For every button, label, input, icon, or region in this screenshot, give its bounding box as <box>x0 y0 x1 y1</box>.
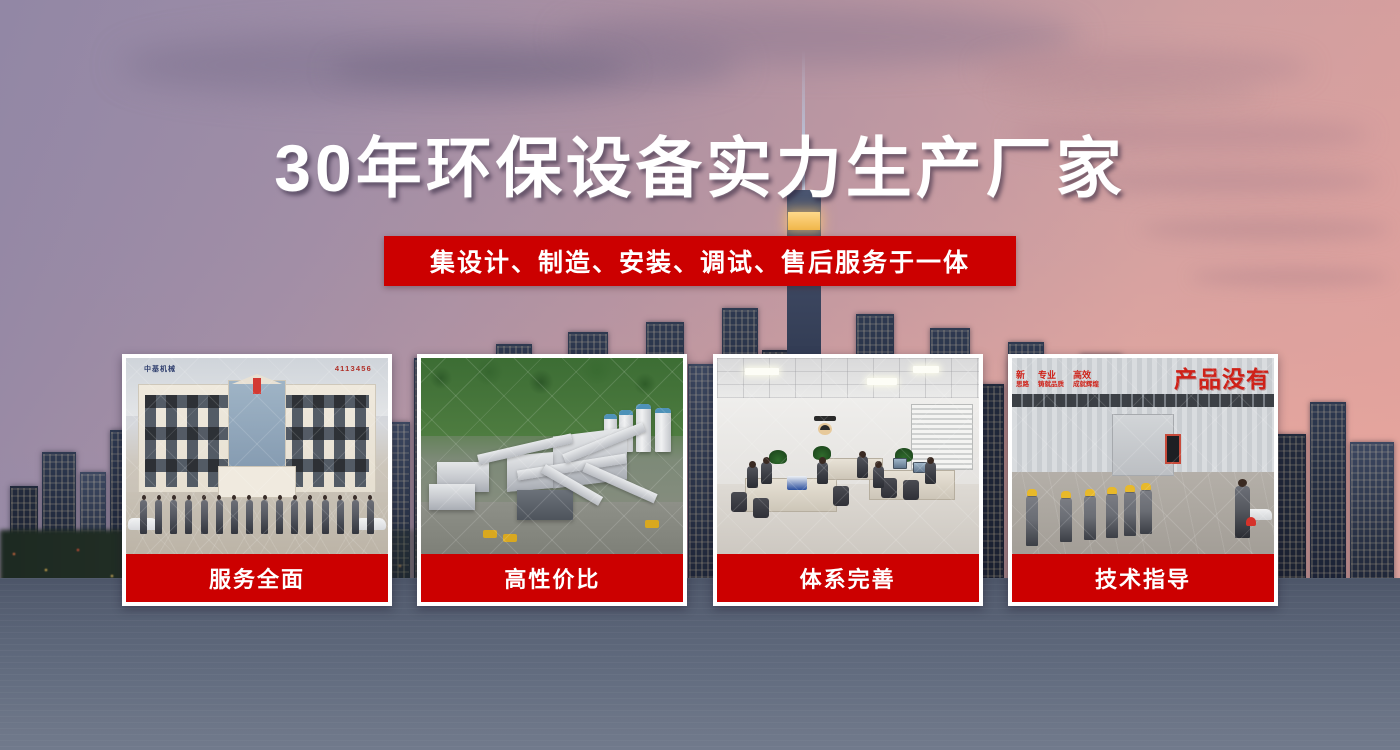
card-photo-office-interior <box>717 358 979 554</box>
cloud-shape <box>1000 78 1260 108</box>
slogan-top: 专业 <box>1038 370 1064 381</box>
slogan-bottom: 成就辉煌 <box>1073 381 1099 389</box>
card-caption-bar: 服务全面 <box>126 554 388 602</box>
printer-icon <box>787 476 807 490</box>
subtitle-banner: 集设计、制造、安装、调试、售后服务于一体 <box>384 236 1016 286</box>
factory-slogan-text: 新 思路 专业 铸就品质 高效 成就辉煌 <box>1016 370 1099 389</box>
card-caption-text: 高性价比 <box>504 562 600 594</box>
cloud-shape <box>330 52 630 86</box>
flag-icon <box>253 378 261 394</box>
page-title: 30年环保设备实力生产厂家 <box>0 132 1400 205</box>
cloud-shape <box>120 30 740 100</box>
card-photo-company-building: 中基机械 4113456 <box>126 358 388 554</box>
building-phone-text: 4113456 <box>335 364 372 373</box>
card-caption-text: 体系完善 <box>800 562 896 594</box>
card-caption-bar: 技术指导 <box>1012 554 1274 602</box>
slogan-bottom: 思路 <box>1016 381 1029 389</box>
card-photo-plant-aerial <box>421 358 683 554</box>
card-photo-factory-workers: 产品没有 新 思路 专业 铸就品质 高效 成就辉煌 <box>1012 358 1274 554</box>
wall-emblem-icon <box>809 416 841 442</box>
feature-card[interactable]: 体系完善 <box>713 354 983 606</box>
card-caption-bar: 高性价比 <box>421 554 683 602</box>
cloud-shape <box>980 48 1310 88</box>
feature-card[interactable]: 产品没有 新 思路 专业 铸就品质 高效 成就辉煌 <box>1008 354 1278 606</box>
promo-banner: 30年环保设备实力生产厂家 集设计、制造、安装、调试、售后服务于一体 中基机械 … <box>0 0 1400 750</box>
slogan-bottom: 铸就品质 <box>1038 381 1064 389</box>
feature-card[interactable]: 中基机械 4113456 服务全面 <box>122 354 392 606</box>
building-sign-text: 中基机械 <box>144 364 176 374</box>
card-caption-text: 技术指导 <box>1095 562 1191 594</box>
slogan-top: 新 <box>1016 370 1029 381</box>
red-helmet-icon <box>1246 517 1256 526</box>
card-caption-bar: 体系完善 <box>717 554 979 602</box>
factory-wall-text: 产品没有 <box>1174 360 1270 394</box>
card-caption-text: 服务全面 <box>209 562 305 594</box>
cloud-shape <box>560 8 1080 66</box>
supervisor-figure <box>1235 486 1250 538</box>
staff-lineup <box>140 494 374 534</box>
feature-card-row: 中基机械 4113456 服务全面 <box>122 354 1278 606</box>
feature-card[interactable]: 高性价比 <box>417 354 687 606</box>
slogan-top: 高效 <box>1073 370 1099 381</box>
subtitle-text: 集设计、制造、安装、调试、售后服务于一体 <box>430 243 970 279</box>
